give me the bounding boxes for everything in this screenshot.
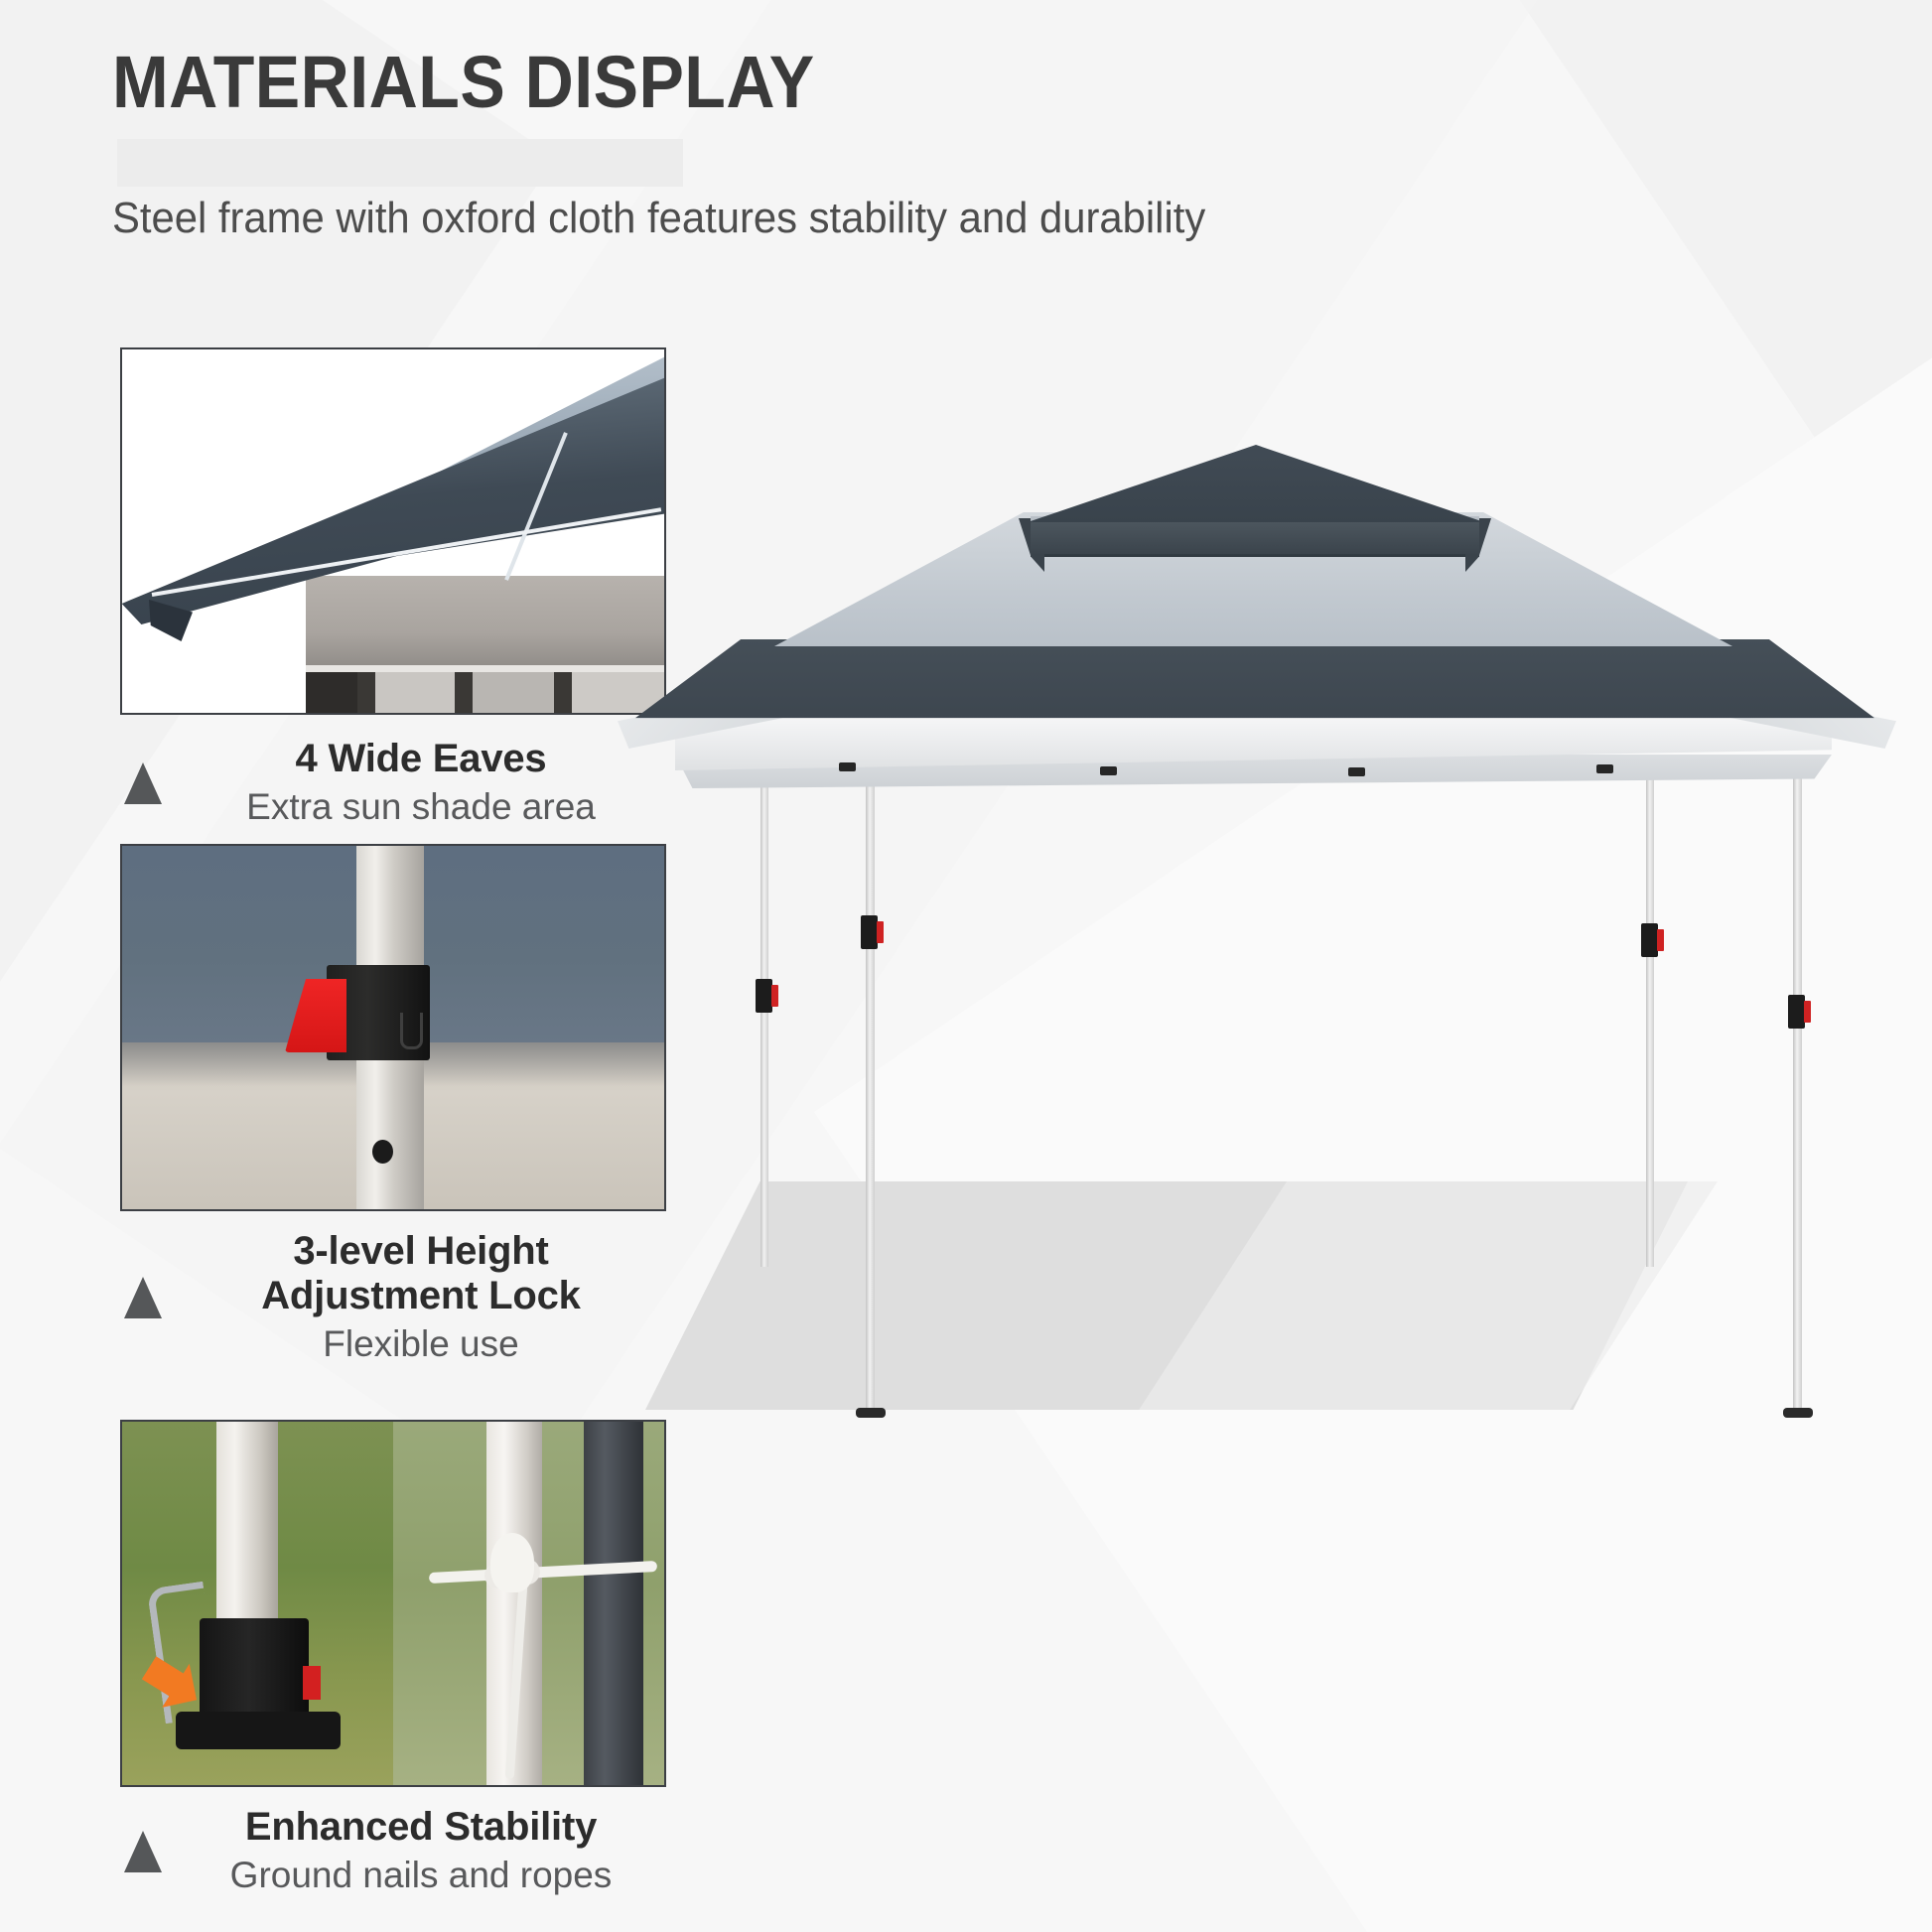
valance-clip [1348,767,1365,776]
feature-title-stability: Enhanced Stability [166,1805,676,1850]
feature-title-height-lock-line1: 3-level Height [166,1229,676,1274]
valance-clip [839,762,856,771]
page-subtitle: Steel frame with oxford cloth features s… [112,193,1205,245]
dark-pole [584,1422,643,1785]
leg-lock-red-lever [1804,1001,1811,1023]
product-illustration-gazebo [635,427,1916,1598]
gazebo-leg-rear-left [760,770,768,1267]
lock-slot [400,1013,423,1049]
valance-fabric [306,576,666,671]
feature-caption-stability: Enhanced Stability Ground nails and rope… [120,1805,676,1897]
base-red-tab [303,1666,321,1700]
pole-foot-plate [176,1712,341,1749]
canopy-vent-band [1031,518,1479,554]
gazebo-leg-rear-right [1646,770,1654,1267]
triangle-bullet-icon [120,762,166,804]
page-title: MATERIALS DISPLAY [112,46,815,119]
canopy-dark-band [635,639,1874,731]
leg-lock-red-lever [1657,929,1664,951]
triangle-bullet-icon [120,1277,166,1318]
feature-title-height-lock-line2: Adjustment Lock [166,1274,676,1318]
leg-lock-collar [756,979,772,1013]
feature-image-stability [120,1420,666,1787]
leg-lock-collar [861,915,878,949]
feature-card-wide-eaves [120,347,666,715]
triangle-bullet-icon [120,1831,166,1872]
title-highlight-band [117,139,683,187]
feature-subtitle-height-lock: Flexible use [166,1322,676,1366]
leg-lock-red-lever [877,921,884,943]
rope-knot [490,1533,534,1592]
gazebo-legs-blurred [306,672,666,715]
rope-knot-photo [393,1422,664,1785]
feature-image-height-lock [120,844,666,1211]
materials-display-page: MATERIALS DISPLAY Steel frame with oxfor… [0,0,1932,1932]
ground-nail-photo [122,1422,393,1785]
canopy-vent-peak [1028,445,1484,522]
feature-subtitle-stability: Ground nails and ropes [166,1854,676,1897]
valance-edge [306,665,666,672]
gazebo-leg-front-right [1793,770,1802,1416]
feature-card-height-lock [120,844,666,1211]
feature-caption-wide-eaves: 4 Wide Eaves Extra sun shade area [120,737,676,829]
feature-image-wide-eaves [120,347,666,715]
leg-lock-red-lever [771,985,778,1007]
feature-title-wide-eaves: 4 Wide Eaves [166,737,676,781]
gazebo-foot-pad [1783,1408,1813,1418]
feature-caption-height-lock: 3-level Height Adjustment Lock Flexible … [120,1229,676,1366]
feature-subtitle-wide-eaves: Extra sun shade area [166,785,676,829]
leg-lock-collar [1788,995,1805,1029]
valance-clip [1100,766,1117,775]
gazebo-foot-pad [856,1408,886,1418]
pole-pin-hole [372,1140,393,1164]
valance-clip [1596,764,1613,773]
leg-lock-collar [1641,923,1658,957]
feature-card-stability [120,1420,666,1787]
gazebo-leg-front-left [866,770,875,1416]
